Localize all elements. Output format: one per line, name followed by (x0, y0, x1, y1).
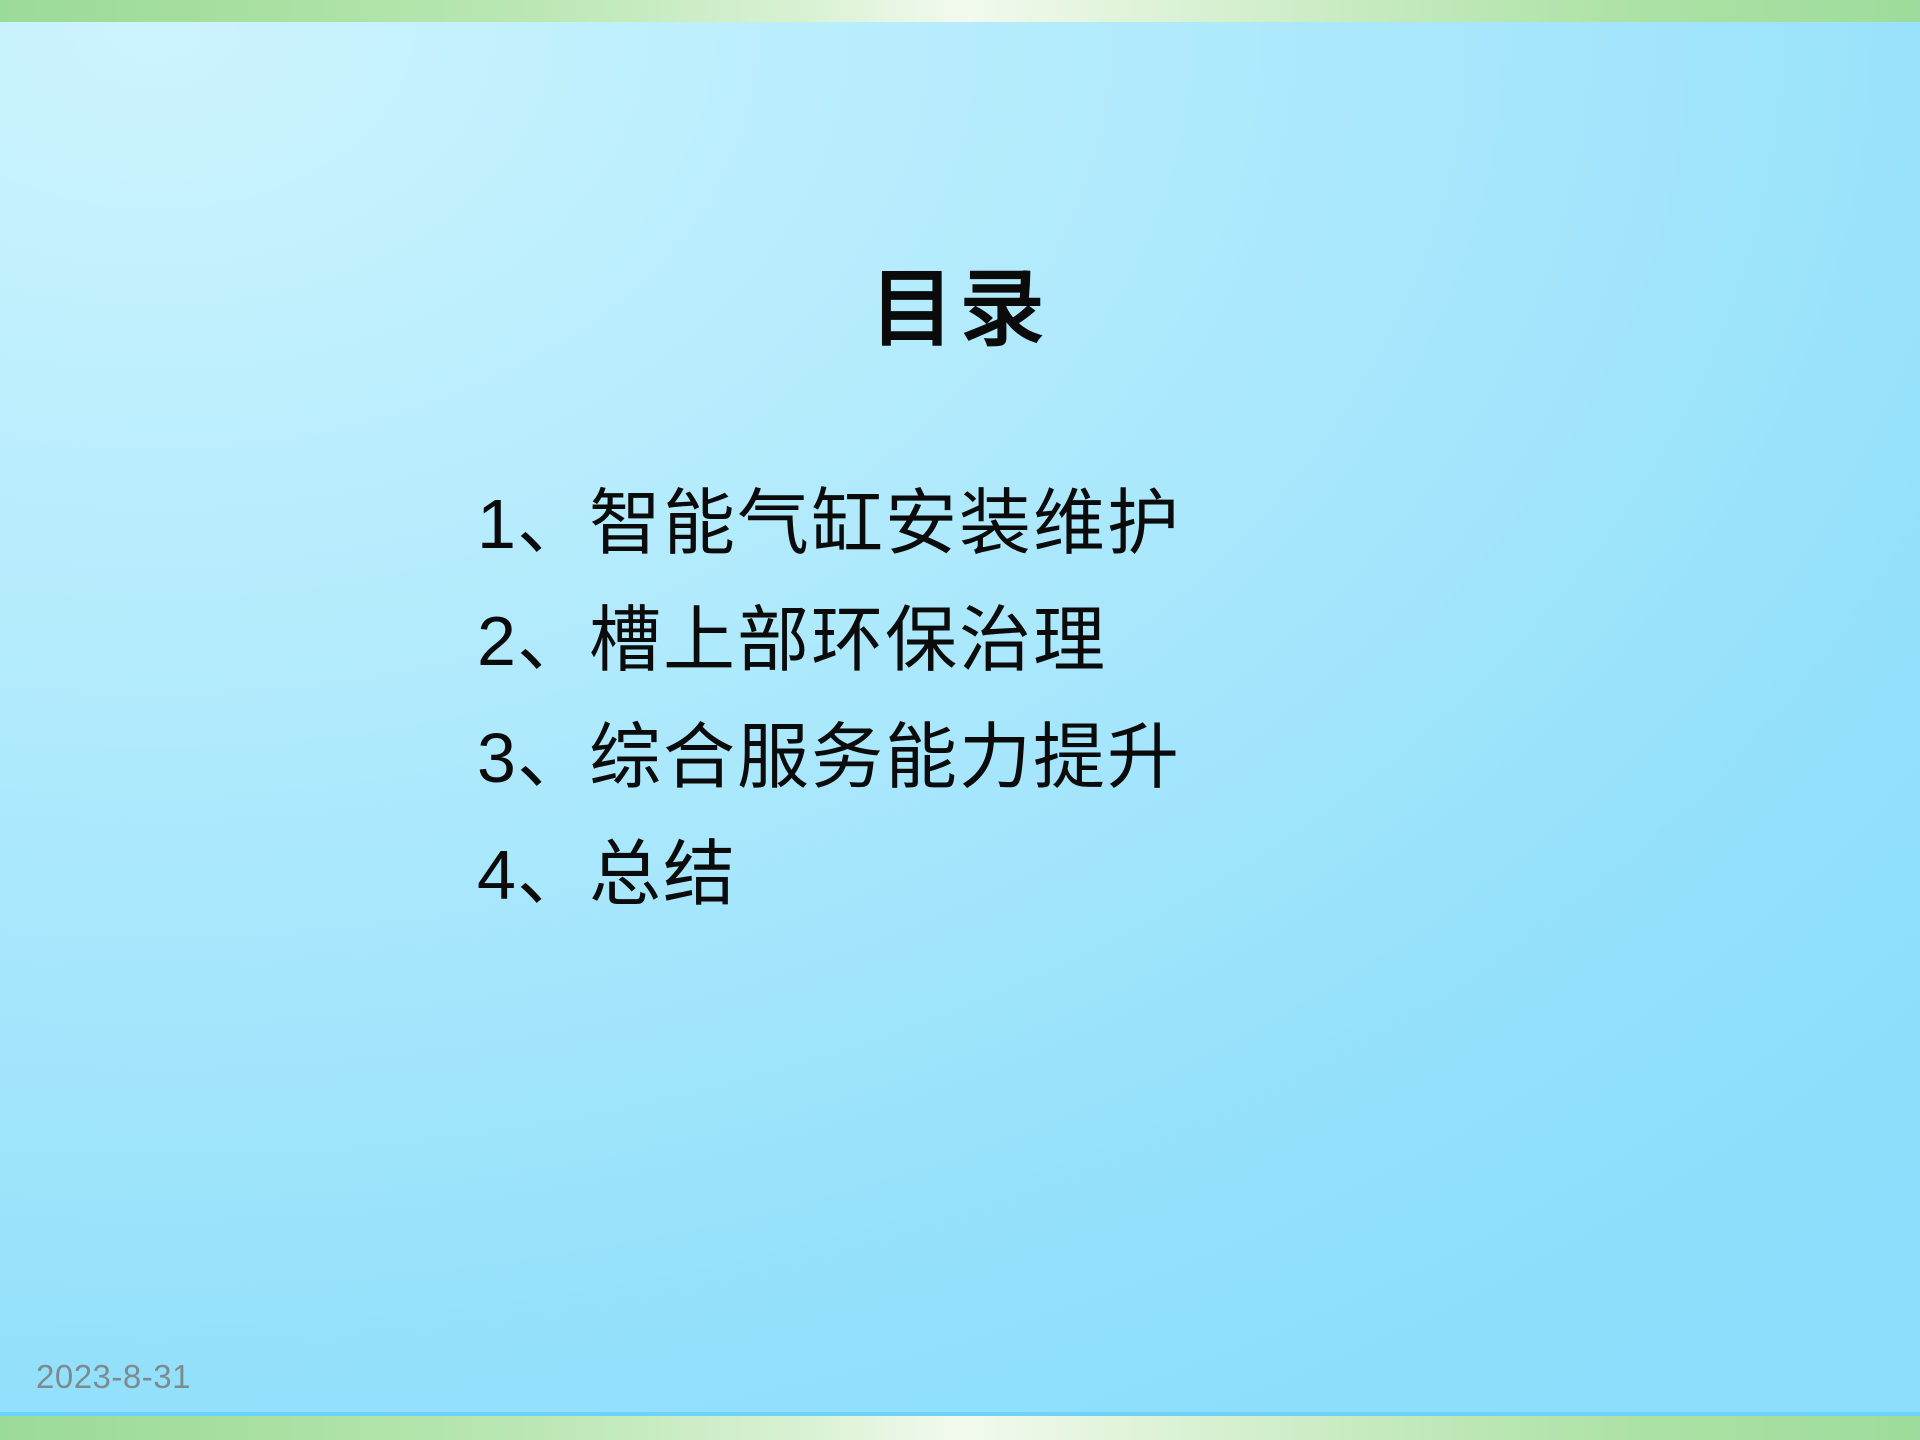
toc-item-index: 1 (477, 485, 517, 563)
toc-item-label: 槽上部环保治理 (589, 601, 1107, 681)
toc-item-index: 4 (477, 836, 517, 914)
list-item[interactable]: 4、总结 (477, 839, 1477, 911)
toc-item-label: 总结 (589, 835, 737, 915)
presentation-slide: 目录 1、智能气缸安装维护 2、槽上部环保治理 3、综合服务能力提升 4、总结 … (0, 0, 1920, 1440)
toc-item-separator: 、 (517, 601, 589, 681)
page-title: 目录 (0, 267, 1920, 355)
toc-item-separator: 、 (517, 835, 589, 915)
list-item[interactable]: 3、综合服务能力提升 (477, 722, 1477, 794)
date-stamp: 2023-8-31 (36, 1358, 191, 1396)
bottom-decorative-band (0, 1416, 1920, 1440)
list-item[interactable]: 2、槽上部环保治理 (477, 605, 1477, 677)
toc-item-index: 2 (477, 602, 517, 680)
top-decorative-band (0, 0, 1920, 22)
toc-item-label: 智能气缸安装维护 (589, 484, 1181, 564)
list-item[interactable]: 1、智能气缸安装维护 (477, 488, 1477, 560)
toc-item-index: 3 (477, 719, 517, 797)
table-of-contents: 1、智能气缸安装维护 2、槽上部环保治理 3、综合服务能力提升 4、总结 (477, 488, 1477, 911)
toc-item-label: 综合服务能力提升 (589, 718, 1181, 798)
toc-item-separator: 、 (517, 718, 589, 798)
toc-item-separator: 、 (517, 484, 589, 564)
